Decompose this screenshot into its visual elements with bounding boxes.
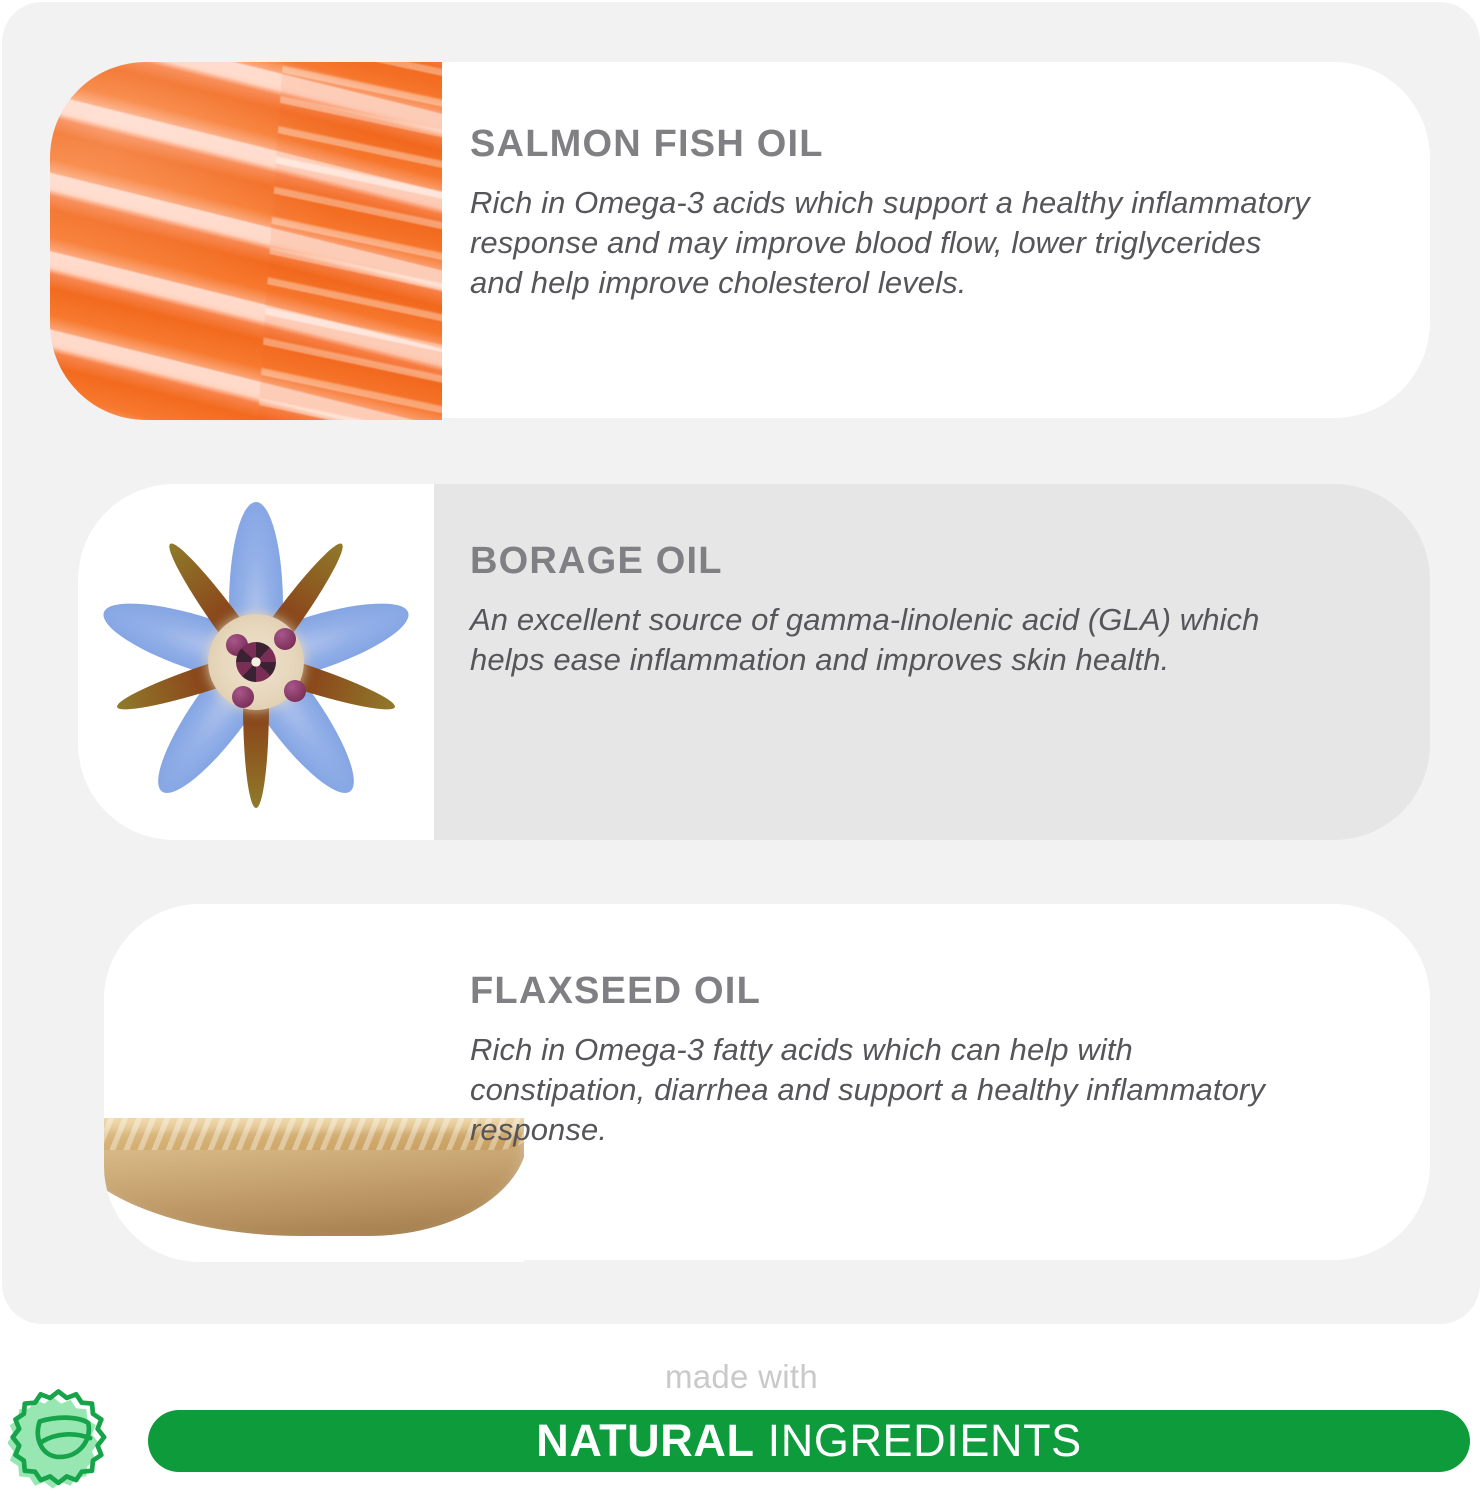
ingredient-text-flaxseed: FLAXSEED OIL Rich in Omega-3 fatty acids… <box>470 971 1300 1151</box>
banner-strong-word: NATURAL <box>536 1415 754 1466</box>
banner-light-word: INGREDIENTS <box>755 1415 1082 1466</box>
ingredient-text-borage: BORAGE OIL An excellent source of gamma-… <box>470 541 1270 680</box>
flower-anther <box>284 680 306 702</box>
ingredient-text-salmon: SALMON FISH OIL Rich in Omega-3 acids wh… <box>470 124 1310 304</box>
natural-ingredients-banner: NATURAL INGREDIENTS <box>148 1410 1470 1472</box>
flower-anther <box>274 628 296 650</box>
banner-text: NATURAL INGREDIENTS <box>536 1415 1082 1467</box>
ingredient-description-flaxseed: Rich in Omega-3 fatty acids which can he… <box>470 1030 1300 1151</box>
footer: made with NATURAL INGREDIENTS <box>0 1322 1483 1500</box>
flaxseed-pile <box>104 950 524 1150</box>
flower-center <box>236 642 276 682</box>
ingredient-description-borage: An excellent source of gamma-linolenic a… <box>470 600 1270 681</box>
made-with-label: made with <box>0 1358 1483 1396</box>
flower-anther <box>232 686 254 708</box>
ingredient-title-borage: BORAGE OIL <box>470 541 1270 583</box>
ingredient-description-salmon: Rich in Omega-3 acids which support a he… <box>470 183 1310 304</box>
flaxseed-scoop-photo <box>104 904 524 1262</box>
borage-flower-photo <box>78 484 434 840</box>
product-ingredients-infographic: SALMON FISH OIL Rich in Omega-3 acids wh… <box>0 0 1483 1500</box>
salmon-fillet-photo <box>50 62 442 420</box>
ingredient-title-flaxseed: FLAXSEED OIL <box>470 971 1300 1013</box>
ingredient-title-salmon: SALMON FISH OIL <box>470 124 1310 166</box>
natural-leaf-badge-icon <box>8 1384 120 1496</box>
